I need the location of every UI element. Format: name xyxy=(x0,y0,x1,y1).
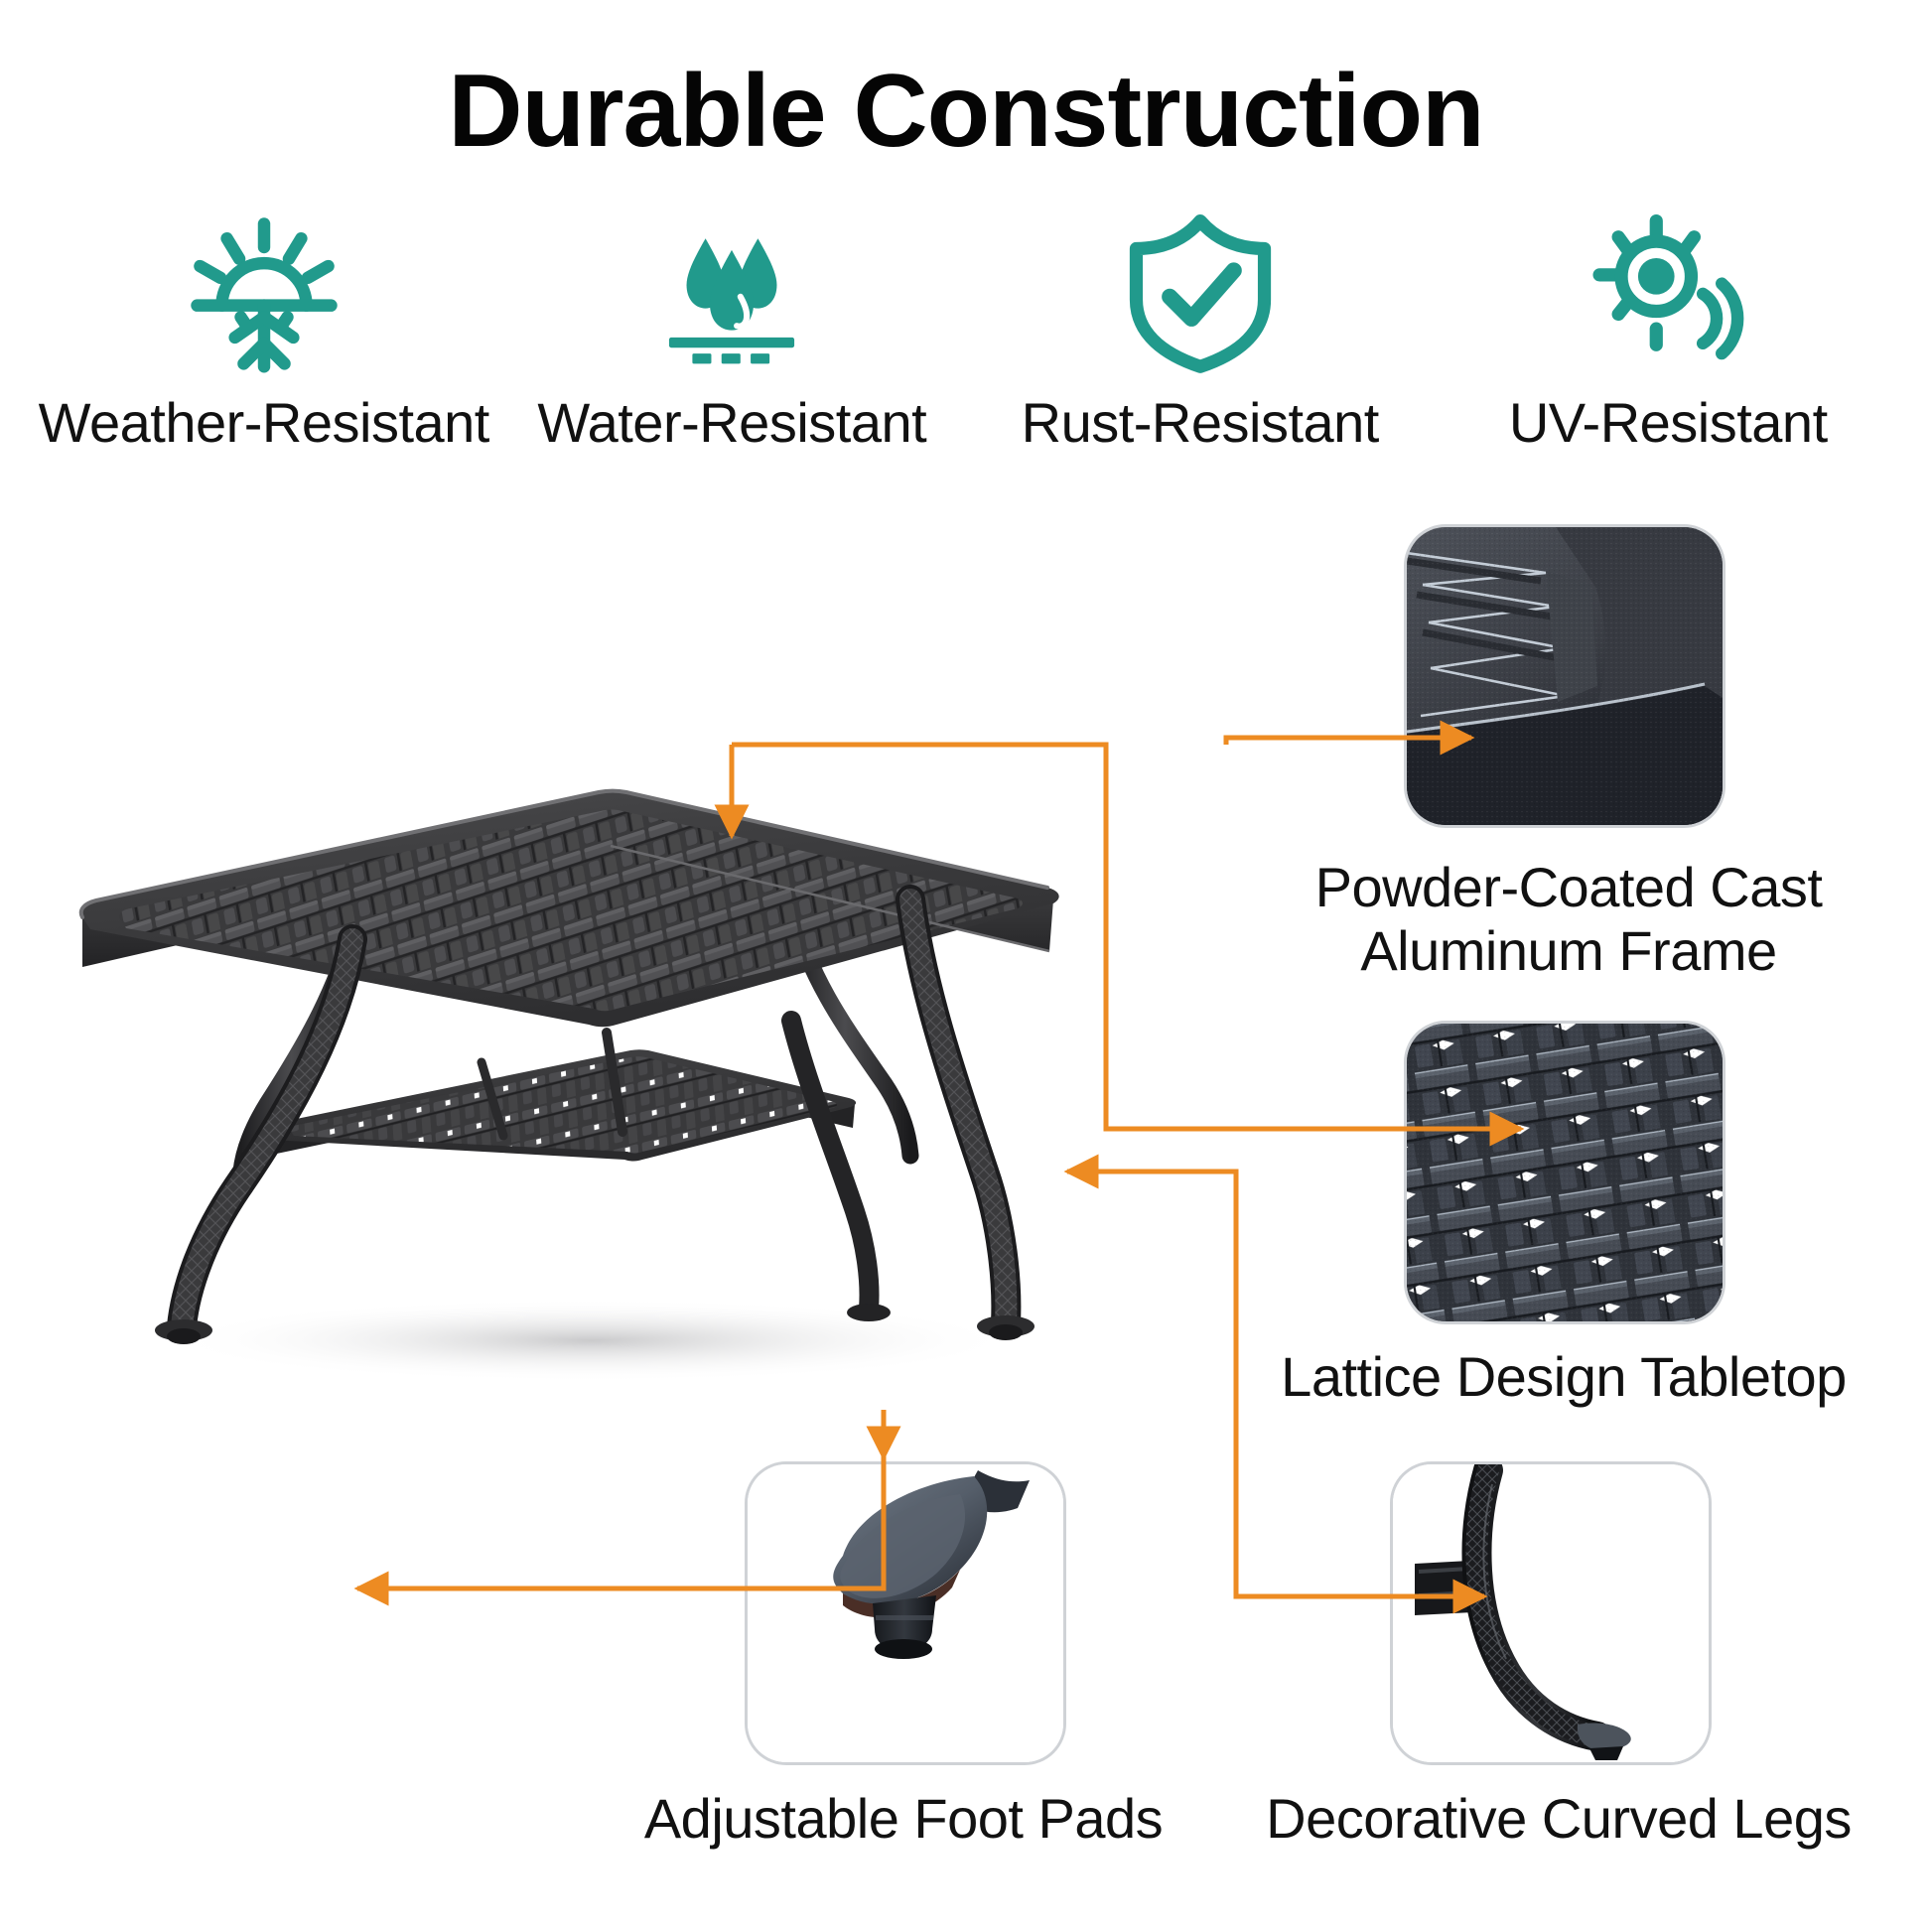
detail-photo-adjustable-foot-pad[interactable] xyxy=(745,1461,1066,1765)
feature-uv-resistant: UV-Resistant xyxy=(1435,199,1903,486)
caption-line: Aluminum Frame xyxy=(1241,919,1896,983)
caption-lattice-tabletop: Lattice Design Tabletop xyxy=(1206,1345,1921,1409)
detail-photo-lattice-tabletop[interactable] xyxy=(1404,1021,1725,1324)
caption-powder-coated-frame: Powder-Coated Cast Aluminum Frame xyxy=(1241,856,1896,984)
caption-line: Decorative Curved Legs xyxy=(1231,1787,1886,1851)
feature-label: Weather-Resistant xyxy=(39,390,489,455)
detail-photo-decorative-curved-leg[interactable] xyxy=(1390,1461,1712,1765)
feature-label: Water-Resistant xyxy=(537,390,926,455)
detail-photo-powder-coated-frame[interactable] xyxy=(1404,524,1725,828)
page-title: Durable Construction xyxy=(0,58,1932,166)
caption-line: Lattice Design Tabletop xyxy=(1206,1345,1921,1409)
caption-decorative-curved-legs: Decorative Curved Legs xyxy=(1231,1787,1886,1851)
caption-line: Adjustable Foot Pads xyxy=(616,1787,1191,1851)
shield-check-icon xyxy=(1101,199,1300,382)
feature-rust-resistant: Rust-Resistant xyxy=(966,199,1435,486)
water-droplets-surface-icon xyxy=(632,199,831,382)
caption-line: Powder-Coated Cast xyxy=(1241,856,1896,919)
feature-row: Weather-Resistant xyxy=(30,199,1902,486)
caption-adjustable-foot-pads: Adjustable Foot Pads xyxy=(616,1787,1191,1851)
feature-label: Rust-Resistant xyxy=(1022,390,1379,455)
sun-snowflake-icon xyxy=(165,199,363,382)
product-image xyxy=(55,735,1117,1430)
infographic-root: Durable Construction xyxy=(0,0,1932,1932)
feature-label: UV-Resistant xyxy=(1509,390,1828,455)
feature-weather-resistant: Weather-Resistant xyxy=(30,199,498,486)
sun-uv-waves-icon xyxy=(1569,199,1767,382)
feature-water-resistant: Water-Resistant xyxy=(498,199,967,486)
